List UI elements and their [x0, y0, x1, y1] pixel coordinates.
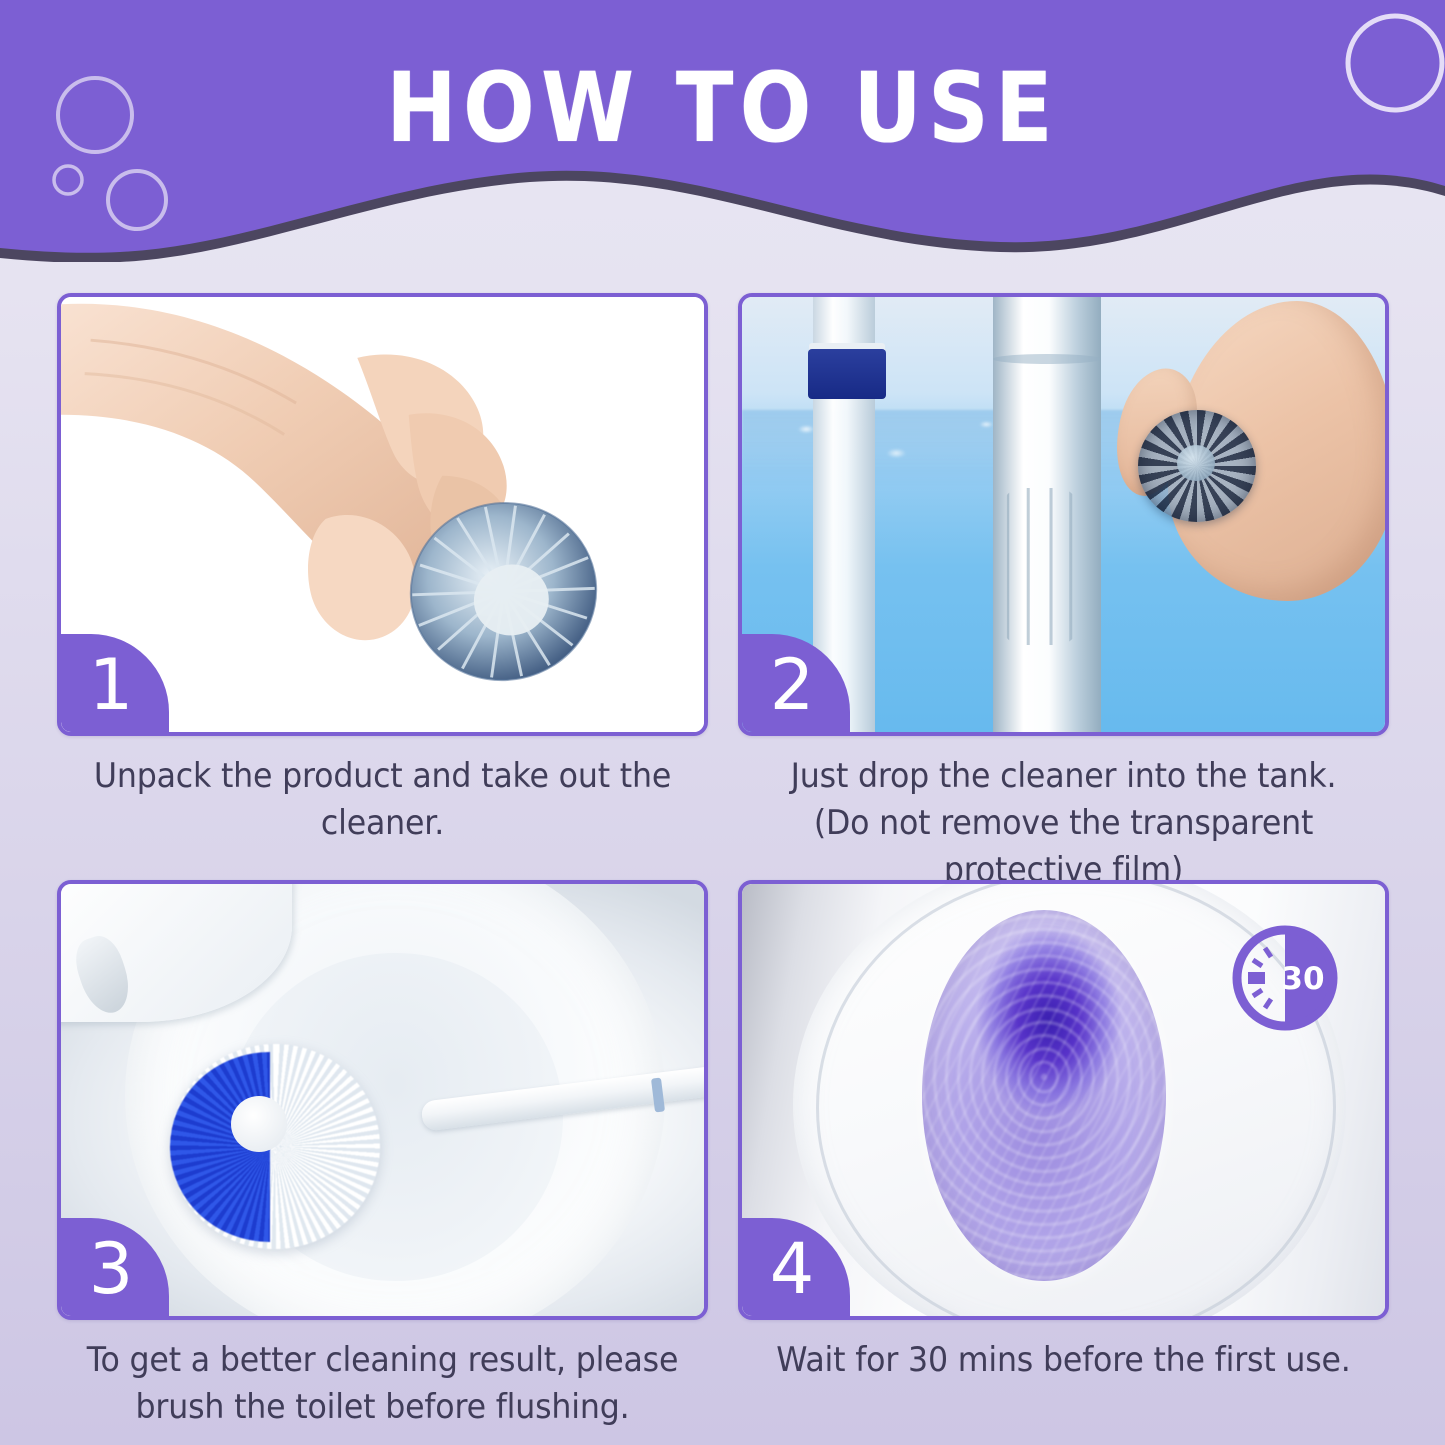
step-image-4: 30 4 [738, 880, 1389, 1320]
tank-blue-clip [808, 349, 886, 399]
step-image-1: 1 [57, 293, 708, 736]
tank-tube-ring [993, 354, 1101, 364]
step-card-3: 3 To get a better cleaning result, pleas… [57, 880, 708, 1413]
header-banner: HOW TO USE [0, 0, 1445, 262]
tank-tube-slots [1002, 488, 1078, 645]
timer-value: 30 [1281, 961, 1324, 997]
step-card-4: 30 4 Wait for 30 mins before the first u… [738, 880, 1389, 1413]
step-caption-3: To get a better cleaning result, please … [80, 1337, 685, 1431]
step-card-1: 1 Unpack the product and take out the cl… [57, 293, 708, 880]
page-title: HOW TO USE [87, 56, 1359, 160]
purple-cleaning-water [922, 910, 1166, 1282]
hand-holding-cleaner-illustration [61, 297, 704, 732]
step-image-2: 2 [738, 293, 1389, 736]
step-number-3: 3 [89, 1234, 134, 1304]
timer-30-icon: 30 [1229, 922, 1341, 1034]
step-caption-1: Unpack the product and take out the clea… [80, 753, 685, 847]
step-number-2: 2 [770, 650, 815, 720]
water-swirl-texture [922, 910, 1166, 1282]
step-number-4: 4 [770, 1234, 815, 1304]
step-number-1: 1 [89, 650, 134, 720]
step-caption-4: Wait for 30 mins before the first use. [761, 1337, 1366, 1384]
step-image-3: 3 [57, 880, 708, 1320]
step-card-2: 2 Just drop the cleaner into the tank. (… [738, 293, 1389, 880]
steps-grid: 1 Unpack the product and take out the cl… [57, 293, 1389, 1413]
step-caption-2: Just drop the cleaner into the tank. (Do… [761, 753, 1366, 894]
brush-hub [231, 1096, 287, 1152]
cleaner-tablet-2 [1138, 410, 1256, 522]
